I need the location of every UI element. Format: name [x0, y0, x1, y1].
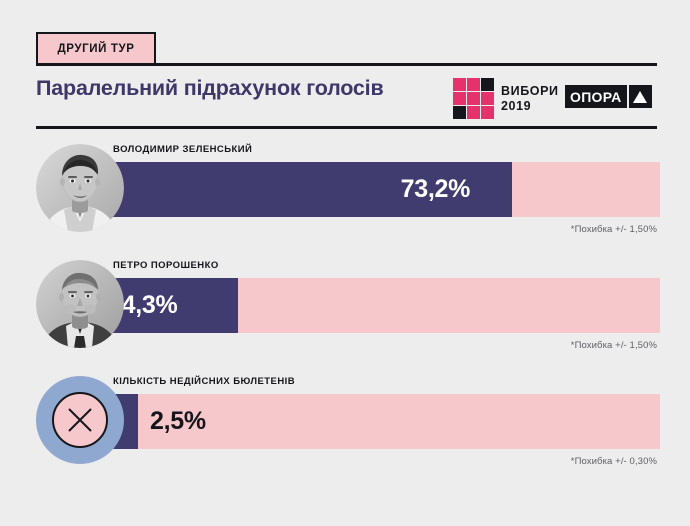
bar-track: 2,5% — [80, 394, 660, 449]
candidate-name: ВОЛОДИМИР ЗЕЛЕНСЬКИЙ — [113, 144, 252, 155]
bar-value-label: 2,5% — [150, 394, 206, 449]
header-divider-top — [36, 63, 657, 66]
opora-word-box: ОПОРА — [565, 85, 627, 108]
portrait-zelensky-icon — [36, 144, 124, 232]
header-divider-bottom — [36, 126, 657, 129]
opora-mark-box — [629, 85, 652, 108]
page-title: Паралельний підрахунок голосів — [36, 76, 383, 101]
avatar — [36, 260, 124, 348]
avatar — [36, 144, 124, 232]
category-name: КІЛЬКІСТЬ НЕДІЙСНИХ БЮЛЕТЕНІВ — [113, 376, 295, 387]
elections-logo-year: 2019 — [501, 99, 559, 113]
grid-cell — [467, 92, 480, 105]
opora-logo: ОПОРА — [565, 85, 652, 108]
triangle-up-icon — [633, 91, 647, 103]
elections-logo-text: ВИБОРИ 2019 — [501, 84, 559, 113]
grid-cell — [481, 92, 494, 105]
grid-cell — [453, 106, 466, 119]
elections-logo-word: ВИБОРИ — [501, 84, 559, 98]
opora-logo-word: ОПОРА — [570, 89, 622, 105]
portrait-poroshenko-icon — [36, 260, 124, 348]
bar-track: 73,2% — [80, 162, 660, 217]
candidate-name: ПЕТРО ПОРОШЕНКО — [113, 260, 219, 271]
elections-2019-logo: ВИБОРИ 2019 — [453, 78, 559, 119]
elections-grid-icon — [453, 78, 494, 119]
grid-cell — [467, 78, 480, 91]
grid-cell — [467, 106, 480, 119]
error-note: *Похибка +/- 1,50% — [571, 340, 657, 351]
grid-cell — [453, 78, 466, 91]
bar-value-label: 73,2% — [401, 162, 470, 217]
round-badge: ДРУГИЙ ТУР — [36, 32, 156, 65]
grid-cell — [481, 78, 494, 91]
bar-track: 24,3% — [80, 278, 660, 333]
error-note: *Похибка +/- 1,50% — [571, 224, 657, 235]
round-badge-label: ДРУГИЙ ТУР — [58, 43, 135, 55]
error-note: *Похибка +/- 0,30% — [571, 456, 657, 467]
grid-cell — [453, 92, 466, 105]
invalid-ballot-icon — [36, 376, 124, 464]
grid-cell — [481, 106, 494, 119]
